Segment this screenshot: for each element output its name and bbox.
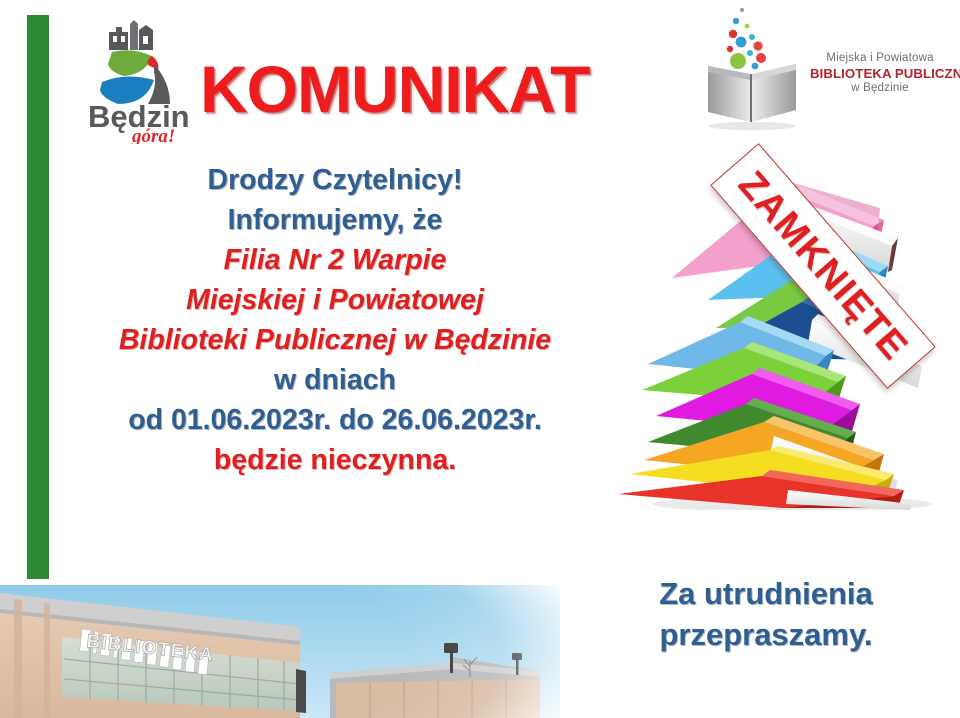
bedzin-tagline: góra! [131,126,175,144]
library-logo-line3: w Będzinie [810,82,950,95]
library-logo: Miejska i Powiatowa BIBLIOTEKA PUBLICZNA… [700,6,950,134]
apology-line-2: przepraszamy. [586,615,946,656]
message-line-8: będzie nieczynna. [30,440,640,480]
message-line-7-dates: od 01.06.2023r. do 26.06.2023r. [30,400,640,440]
library-logo-line1: Miejska i Powiatowa [810,52,950,65]
message-line-2: Informujemy, że [30,200,640,240]
library-building-photo: BIBLIOTEKA [0,585,560,718]
library-logo-text: Miejska i Powiatowa BIBLIOTEKA PUBLICZNA… [810,52,950,95]
message-line-5: Biblioteki Publicznej w Będzinie [30,320,640,360]
message-line-1: Drodzy Czytelnicy! [30,160,640,200]
castle-icon [109,20,153,50]
message-line-4: Miejskiej i Powiatowej [30,280,640,320]
apology-line-1: Za utrudnienia [586,574,946,615]
hill-green-layer [108,50,152,76]
announcement-body: Drodzy Czytelnicy! Informujemy, że Filia… [30,160,640,480]
bedzin-city-logo: Będzin góra! [76,12,188,144]
idea-bubbles [727,8,766,70]
library-logo-line2: BIBLIOTEKA PUBLICZNA [810,66,950,81]
announcement-poster: Będzin góra! [0,0,960,718]
poster-headline: KOMUNIKAT [200,56,670,122]
message-line-6: w dniach [30,360,640,400]
open-book-icon [700,6,808,130]
apology-text: Za utrudnienia przepraszamy. [586,574,946,656]
message-line-3: Filia Nr 2 Warpie [30,240,640,280]
